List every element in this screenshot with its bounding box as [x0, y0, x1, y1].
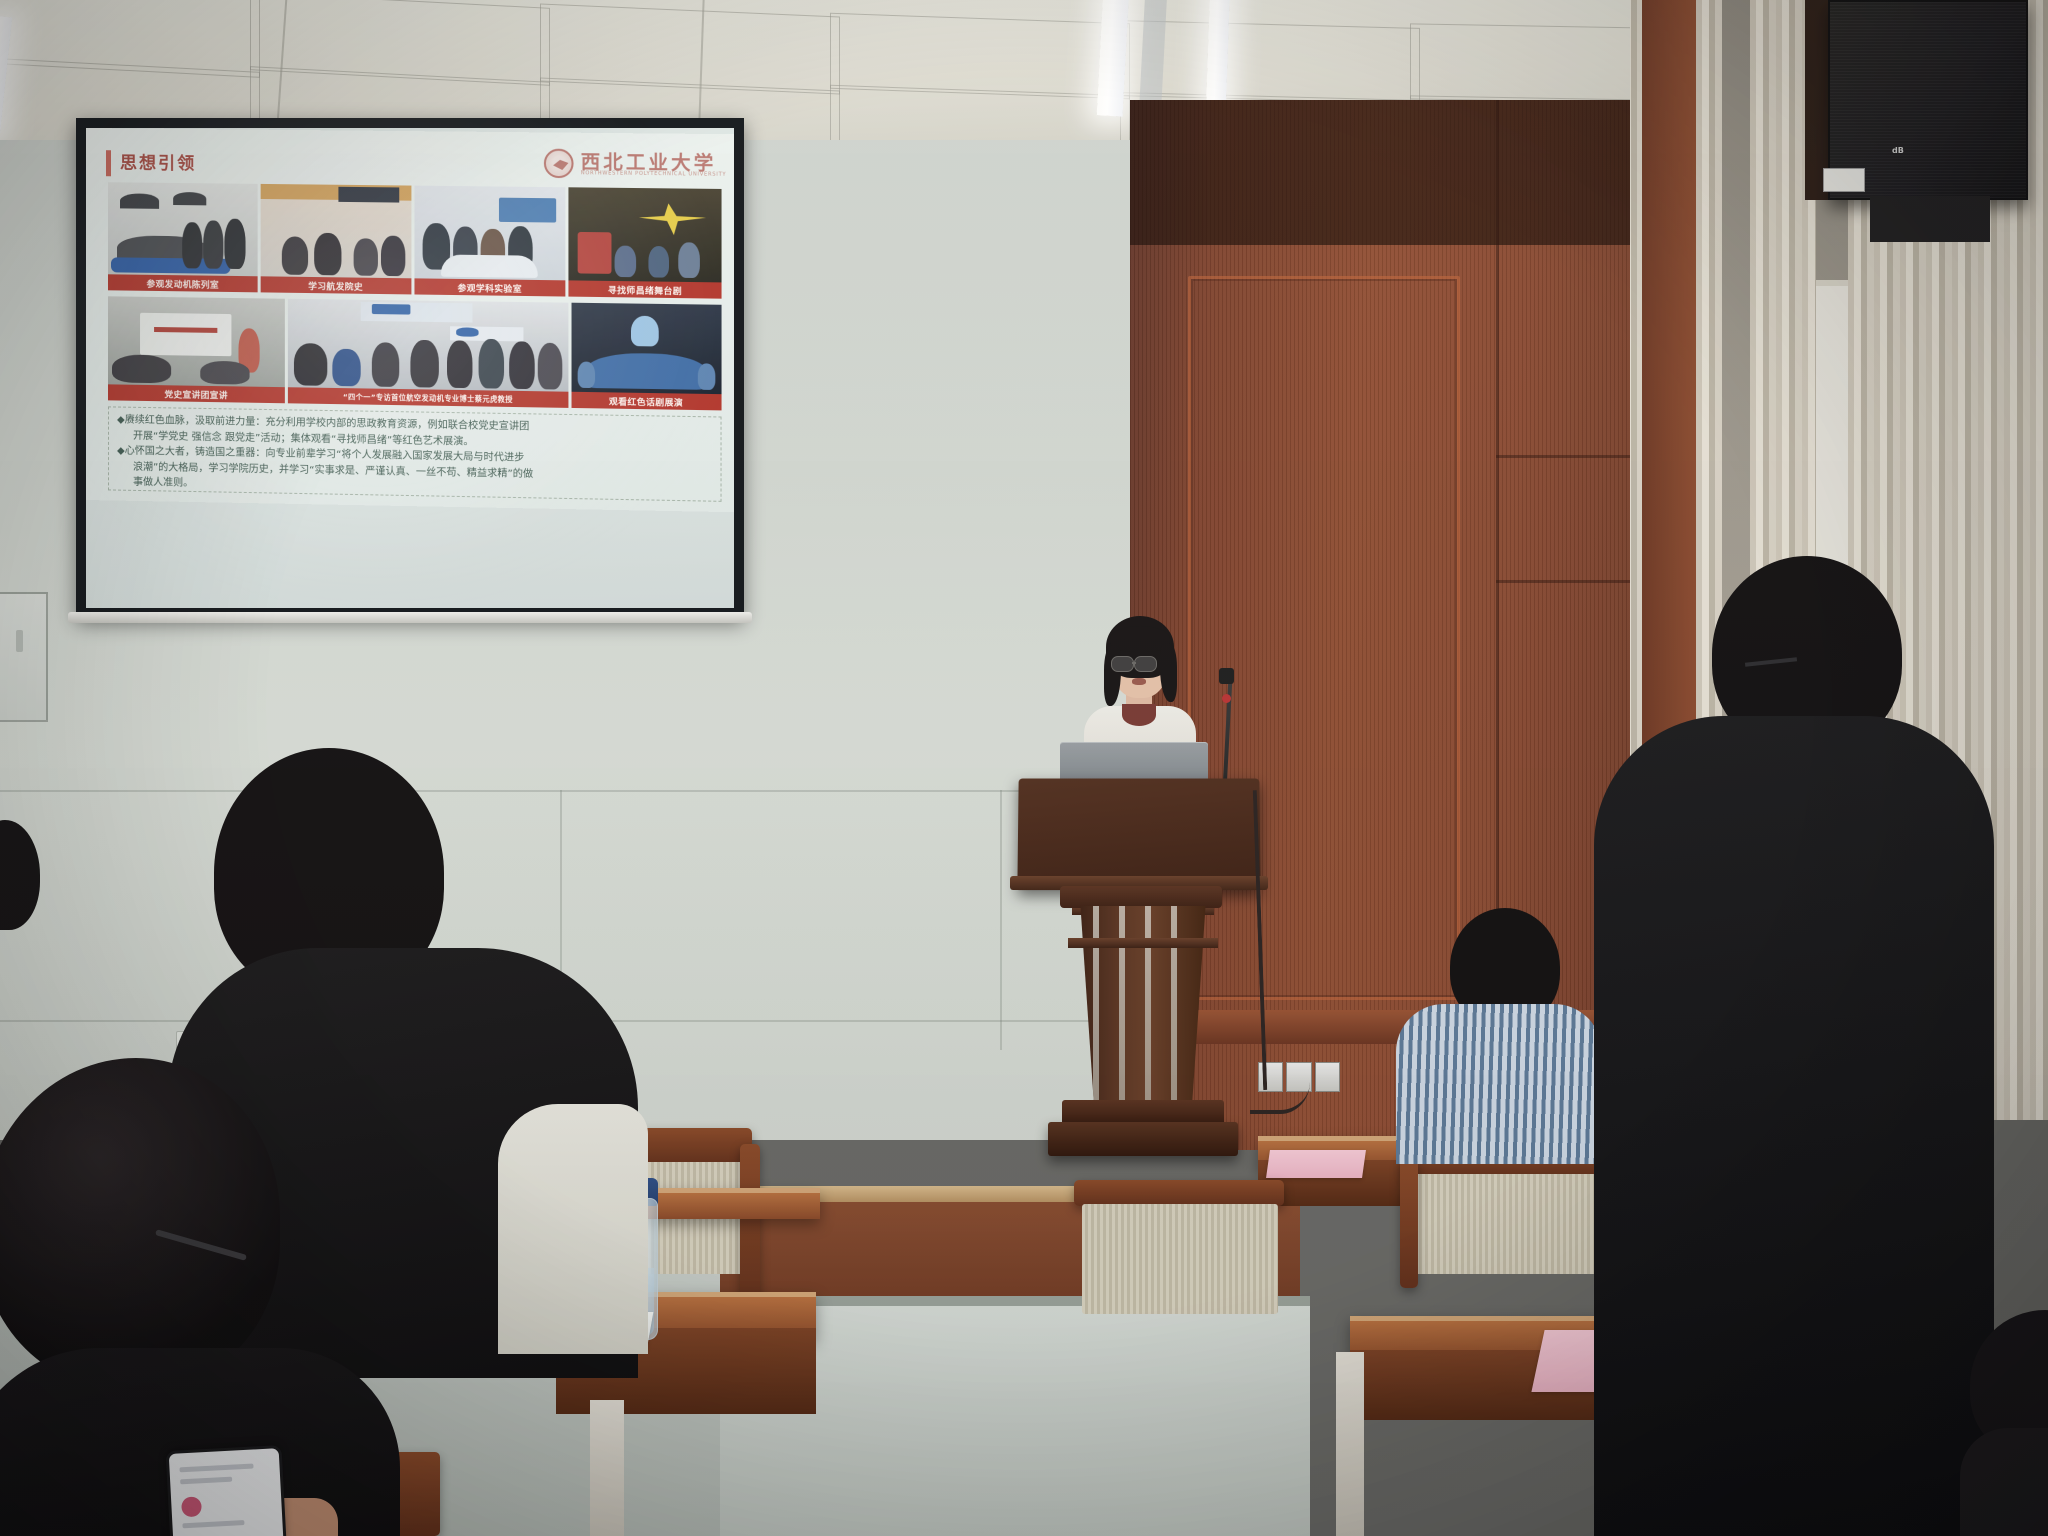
photo-caption: 参观发动机陈列室 [146, 277, 218, 290]
lecture-hall-photo: dB 思想引领 西北工业大学 NORTHWESTERN POLYTECHNICA… [0, 0, 2048, 1536]
photo-caption: 观看红色话剧展演 [609, 394, 683, 408]
handout-paper[interactable] [1266, 1150, 1366, 1178]
speaker-brand-icon: dB [1892, 146, 1904, 155]
photo-caption-bar: 参观学科实验室 [414, 278, 566, 296]
slide-text-box: ◆赓续红色血脉，汲取前进力量：充分利用学校内部的思政教育资源，例如联合校党史宣讲… [108, 406, 722, 501]
partial-person-head [0, 820, 40, 930]
photo-caption: 学习航发院史 [308, 279, 363, 292]
student-torso [1396, 1004, 1602, 1164]
eyeglasses-bridge [1132, 662, 1136, 664]
contact-avatar-icon [181, 1496, 202, 1517]
wood-wall-recessed-panel [1188, 276, 1460, 1000]
power-cable-bend [1250, 1050, 1310, 1114]
slide-content: 思想引领 西北工业大学 NORTHWESTERN POLYTECHNICAL U… [86, 128, 734, 512]
photo-card: 党史宣讲团宣讲 [108, 296, 285, 403]
presenter-hair-right [1160, 644, 1177, 702]
speaker-mount-bar [1870, 196, 1990, 242]
student-striped-shirt [1388, 908, 1608, 1158]
slide-title-accent-bar [106, 150, 111, 176]
photo-caption: 参观学科实验室 [457, 281, 521, 294]
speaker-label-tag [1823, 168, 1865, 192]
photo-caption-bar: 党史宣讲团宣讲 [108, 384, 285, 403]
photo-caption: “四个一”专访首位航空发动机专业博士蔡元虎教授 [343, 391, 513, 404]
university-crest-icon [544, 149, 574, 179]
eyeglasses-icon [1111, 656, 1134, 672]
student-hoodie-sleeve [498, 1104, 648, 1354]
desk-leg [590, 1400, 624, 1536]
podium-base [1048, 1122, 1238, 1156]
podium-ring-lower [1068, 938, 1218, 948]
presenter-mouth [1132, 678, 1146, 685]
photo-card: “四个一”专访首位航空发动机专业博士蔡元虎教授 [288, 299, 569, 408]
desk-leg [1336, 1352, 1364, 1536]
light-switch[interactable] [1315, 1062, 1340, 1092]
partial-person-torso [1960, 1428, 2048, 1536]
photo-caption: 寻找师昌绪舞台剧 [608, 283, 682, 297]
projected-slide: 思想引领 西北工业大学 NORTHWESTERN POLYTECHNICAL U… [86, 128, 734, 608]
photo-caption-bar: 寻找师昌绪舞台剧 [569, 280, 722, 298]
photo-caption-bar: 学习航发院史 [260, 276, 411, 294]
photo-card: 寻找师昌绪舞台剧 [569, 187, 722, 298]
smartphone[interactable] [166, 1445, 287, 1536]
photo-caption: 党史宣讲团宣讲 [165, 387, 228, 401]
photo-card: 参观学科实验室 [414, 186, 566, 297]
presenter-collar [1122, 704, 1156, 726]
photo-card: 观看红色话剧展演 [572, 303, 722, 411]
slide-title: 思想引领 [120, 148, 196, 174]
presenter-hair-left [1104, 646, 1121, 706]
panel-latch-icon [16, 630, 23, 652]
photo-caption-bar: 观看红色话剧展演 [572, 392, 722, 411]
wood-wall-shadow [1130, 100, 1650, 245]
chair-post [740, 1144, 760, 1304]
photo-card: 学习航发院史 [260, 184, 411, 295]
projection-screen-weight-bar [68, 612, 752, 623]
chair-post [1400, 1158, 1418, 1288]
microphone-icon [1219, 668, 1234, 684]
university-logo: 西北工业大学 NORTHWESTERN POLYTECHNICAL UNIVER… [544, 147, 725, 183]
microphone-indicator [1222, 694, 1231, 703]
podium-collar [1060, 886, 1222, 908]
student-curly-head [0, 1058, 280, 1388]
standing-person-jacket [1594, 716, 1994, 1536]
standing-person [1594, 556, 1994, 1536]
podium-column [1075, 906, 1211, 1106]
wall-panel-left [0, 592, 48, 722]
partial-person-right-edge [1960, 1310, 2048, 1536]
photo-card: 参观发动机陈列室 [108, 182, 257, 292]
photo-row-2: 党史宣讲团宣讲 [108, 296, 722, 410]
photo-caption-bar: 参观发动机陈列室 [108, 274, 257, 292]
eyeglasses-icon [1134, 656, 1157, 672]
university-name-en: NORTHWESTERN POLYTECHNICAL UNIVERSITY [581, 170, 727, 178]
photo-row-1: 参观发动机陈列室 [108, 182, 722, 298]
chair-cushion [1082, 1204, 1278, 1314]
partial-person-left-edge [0, 820, 40, 940]
chair-back-rail [1074, 1180, 1284, 1206]
podium-desktop [1017, 779, 1260, 891]
